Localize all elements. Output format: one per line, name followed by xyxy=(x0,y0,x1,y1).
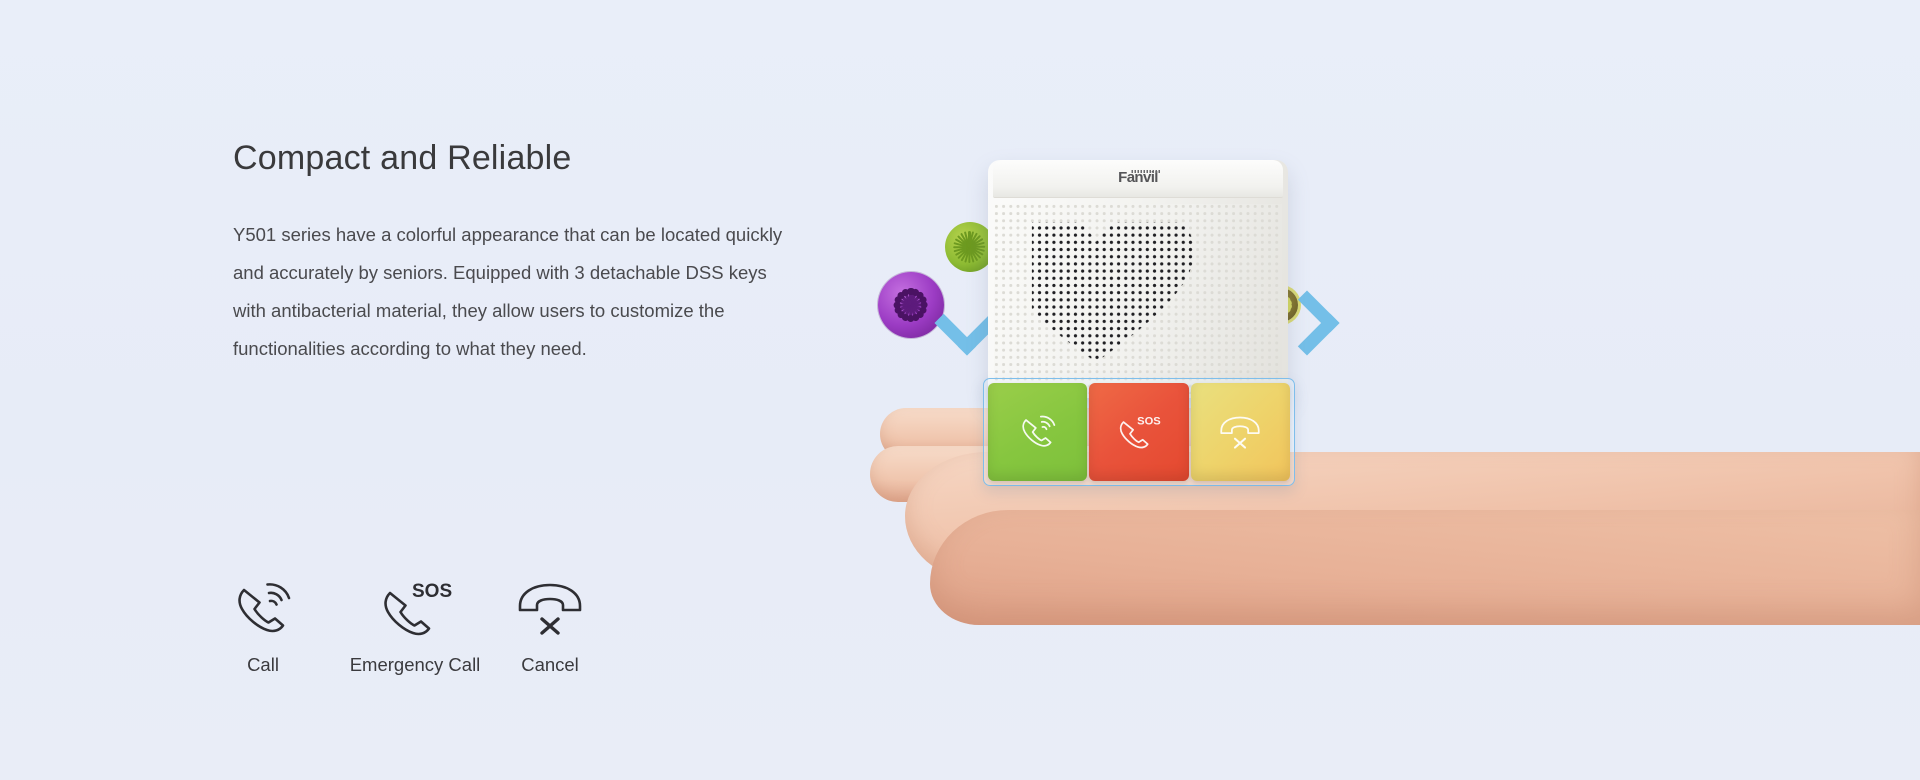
device-top-bar: Fanvil xyxy=(993,160,1283,198)
svg-text:SOS: SOS xyxy=(412,581,452,602)
phone-call-icon xyxy=(1019,415,1057,449)
product-feature-banner: Compact and Reliable Y501 series have a … xyxy=(0,0,1920,780)
copy-block: Compact and Reliable Y501 series have a … xyxy=(233,140,913,368)
speaker-grille xyxy=(994,204,1282,394)
product-photo: Fanvil xyxy=(860,0,1920,780)
device-shell: Fanvil xyxy=(988,160,1288,398)
body-line-2: and accurately by seniors. Equipped with… xyxy=(233,254,898,292)
feature-label: Call xyxy=(247,654,279,676)
svg-text:SOS: SOS xyxy=(1137,416,1161,428)
phone-sos-icon: SOS xyxy=(379,578,451,640)
phone-sos-icon: SOS xyxy=(1116,414,1162,450)
phone-hangup-x-icon xyxy=(1219,415,1261,450)
page-title: Compact and Reliable xyxy=(233,140,913,177)
feature-legend: Call SOS Emergency Call Cancel xyxy=(233,578,550,676)
body-line-3: with antibacterial material, they allow … xyxy=(233,292,898,330)
heart-pattern xyxy=(1032,222,1237,382)
dss-key-call[interactable] xyxy=(988,383,1087,481)
feature-label: Cancel xyxy=(521,654,579,676)
body-line-4: functionalities according to what they n… xyxy=(233,330,898,368)
dss-key-cancel[interactable] xyxy=(1191,383,1290,481)
device-body: Fanvil xyxy=(988,142,1288,402)
dss-key-emergency-call[interactable]: SOS xyxy=(1089,383,1188,481)
phone-call-icon xyxy=(234,578,292,640)
heart-dots xyxy=(1032,222,1237,382)
body-line-1: Y501 series have a colorful appearance t… xyxy=(233,216,898,254)
dss-key-strip: SOS xyxy=(983,378,1295,486)
body-paragraph: Y501 series have a colorful appearance t… xyxy=(233,216,898,368)
feature-label: Emergency Call xyxy=(350,654,481,676)
brand-logo: Fanvil xyxy=(993,169,1283,186)
palm-lower xyxy=(930,510,1920,625)
phone-hangup-x-icon xyxy=(517,578,583,640)
